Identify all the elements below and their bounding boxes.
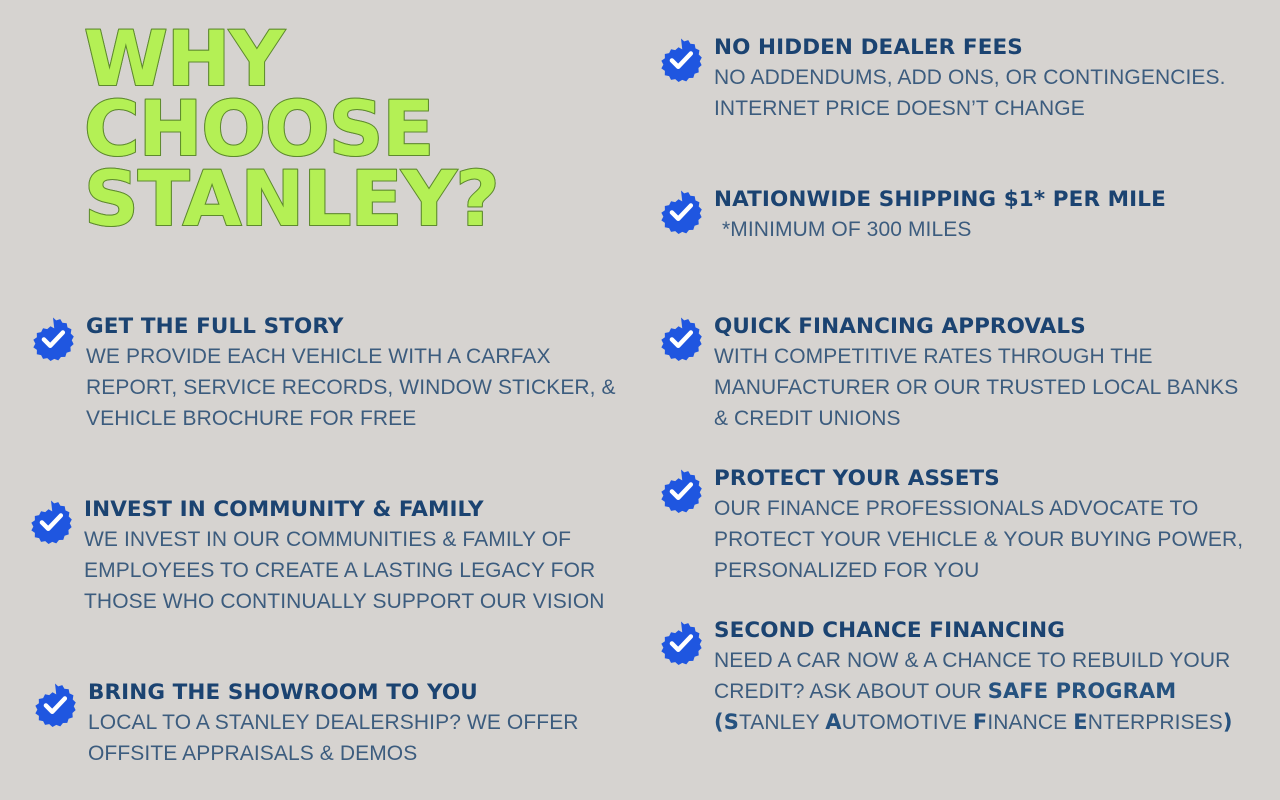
acronym-s-rest: TANLEY (739, 711, 825, 734)
check-badge-icon (658, 620, 704, 666)
left-column: WHY CHOOSE STANLEY? GET THE FULL STORY W… (0, 0, 640, 800)
check-badge-icon (658, 316, 704, 362)
feature-block: GET THE FULL STORY WE PROVIDE EACH VEHIC… (30, 314, 630, 434)
acronym-e-initial: E (1073, 710, 1087, 734)
feature-body: WITH COMPETITIVE RATES THROUGH THE MANUF… (714, 341, 1258, 434)
page-title: WHY CHOOSE STANLEY? (84, 24, 624, 234)
feature-body: WE PROVIDE EACH VEHICLE WITH A CARFAX RE… (86, 341, 630, 434)
feature-block: INVEST IN COMMUNITY & FAMILY WE INVEST I… (28, 497, 628, 617)
feature-block: NO HIDDEN DEALER FEES NO ADDENDUMS, ADD … (658, 35, 1258, 124)
feature-title: NATIONWIDE SHIPPING $1* PER MILE (714, 187, 1258, 212)
check-badge-icon (658, 189, 704, 235)
acronym-f-rest: INANCE (987, 711, 1073, 734)
acronym-close-paren: ) (1223, 710, 1233, 734)
feature-title: QUICK FINANCING APPROVALS (714, 314, 1258, 339)
feature-body: NO ADDENDUMS, ADD ONS, OR CONTINGENCIES.… (714, 62, 1258, 124)
check-badge-icon (28, 499, 74, 545)
acronym-a-initial: A (825, 710, 841, 734)
feature-block: NATIONWIDE SHIPPING $1* PER MILE *MINIMU… (658, 187, 1258, 245)
feature-title: INVEST IN COMMUNITY & FAMILY (84, 497, 628, 522)
check-badge-icon (30, 316, 76, 362)
feature-block: SECOND CHANCE FINANCING NEED A CAR NOW &… (658, 618, 1258, 738)
feature-body: NEED A CAR NOW & A CHANCE TO REBUILD YOU… (714, 645, 1258, 738)
poster-root: WHY CHOOSE STANLEY? GET THE FULL STORY W… (0, 0, 1280, 800)
acronym-a-rest: UTOMOTIVE (842, 711, 973, 734)
feature-block: QUICK FINANCING APPROVALS WITH COMPETITI… (658, 314, 1258, 434)
acronym-e-rest: NTERPRISES (1088, 711, 1223, 734)
check-badge-icon (32, 682, 78, 728)
feature-body: *MINIMUM OF 300 MILES (714, 214, 1258, 245)
feature-title: BRING THE SHOWROOM TO YOU (88, 680, 632, 705)
feature-title: PROTECT YOUR ASSETS (714, 466, 1258, 491)
check-badge-icon (658, 37, 704, 83)
feature-block: BRING THE SHOWROOM TO YOU LOCAL TO A STA… (32, 680, 632, 769)
acronym-s-initial: S (724, 710, 739, 734)
feature-title: SECOND CHANCE FINANCING (714, 618, 1258, 643)
feature-body: WE INVEST IN OUR COMMUNITIES & FAMILY OF… (84, 524, 628, 617)
feature-title: NO HIDDEN DEALER FEES (714, 35, 1258, 60)
check-badge-icon (658, 468, 704, 514)
feature-body: LOCAL TO A STANLEY DEALERSHIP? WE OFFER … (88, 707, 632, 769)
feature-title: GET THE FULL STORY (86, 314, 630, 339)
right-column: NO HIDDEN DEALER FEES NO ADDENDUMS, ADD … (640, 0, 1280, 800)
feature-body: OUR FINANCE PROFESSIONALS ADVOCATE TO PR… (714, 493, 1258, 586)
feature-block: PROTECT YOUR ASSETS OUR FINANCE PROFESSI… (658, 466, 1258, 586)
acronym-f-initial: F (973, 710, 987, 734)
